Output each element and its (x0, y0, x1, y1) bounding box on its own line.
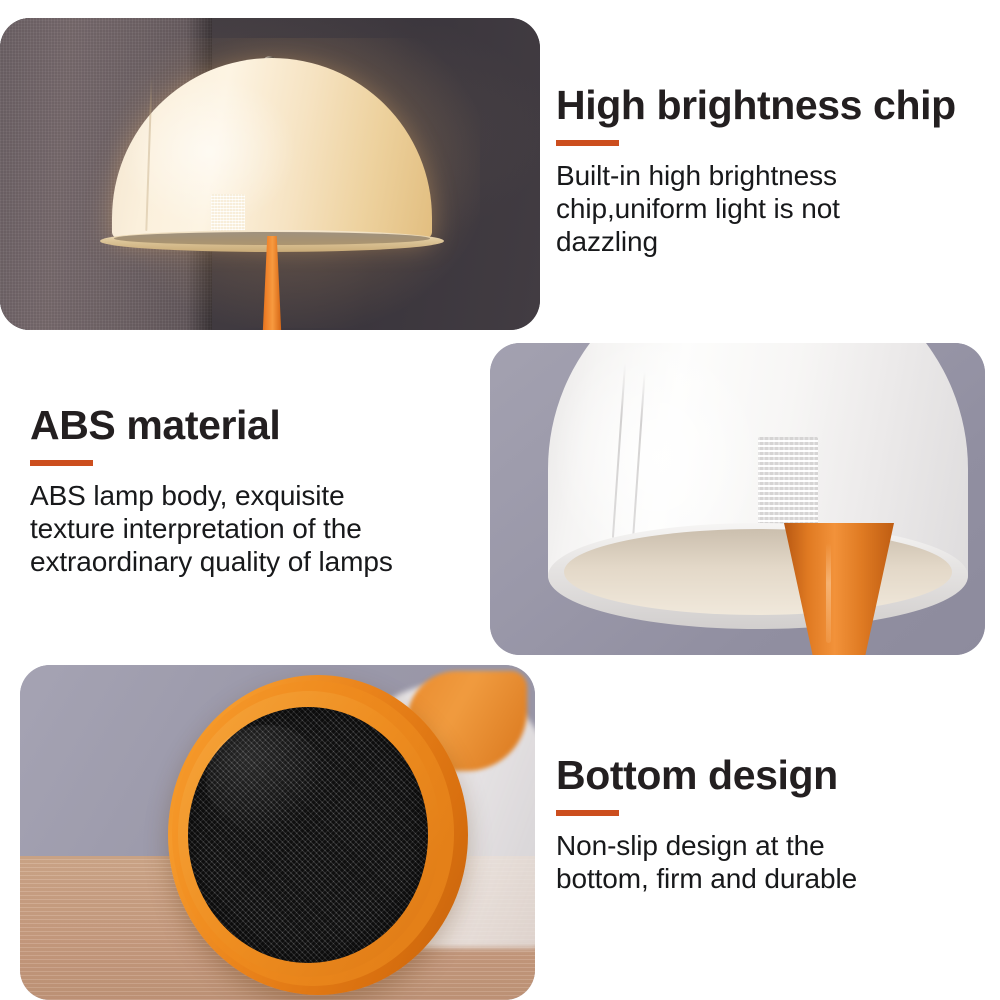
feature-description-line: bottom, firm and durable (556, 862, 994, 895)
feature-description: Non-slip design at the bottom, firm and … (556, 829, 994, 895)
feature-description-line: extraordinary quality of lamps (30, 545, 480, 578)
feature-description-line: chip,uniform light is not (556, 192, 994, 225)
feature-description-line: Built-in high brightness (556, 159, 994, 192)
dome-rim-interior (564, 529, 952, 615)
infographic-page: High brightness chip Built-in high brigh… (0, 0, 1000, 1000)
feature-description-line: Non-slip design at the (556, 829, 994, 862)
stem-highlight (826, 543, 831, 643)
non-slip-pad-sheen (206, 725, 326, 835)
feature-description-line: ABS lamp body, exquisite (30, 479, 480, 512)
accent-bar (556, 140, 619, 146)
feature-block-high-brightness-chip: High brightness chip Built-in high brigh… (556, 83, 994, 258)
orange-base-closeup-photo (20, 665, 535, 1000)
feature-description: ABS lamp body, exquisite texture interpr… (30, 479, 480, 578)
dome-mesh-highlight (758, 437, 818, 527)
feature-description-line: dazzling (556, 225, 994, 258)
accent-bar (556, 810, 619, 816)
feature-title: Bottom design (556, 753, 994, 797)
feature-title: High brightness chip (556, 83, 994, 127)
feature-block-abs-material: ABS material ABS lamp body, exquisite te… (30, 403, 480, 578)
feature-description: Built-in high brightness chip,uniform li… (556, 159, 994, 258)
feature-description-line: texture interpretation of the (30, 512, 480, 545)
lamp-lit-on-dark-wall-photo (0, 18, 540, 330)
white-dome-closeup-photo (490, 343, 985, 655)
feature-title: ABS material (30, 403, 480, 447)
feature-block-bottom-design: Bottom design Non-slip design at the bot… (556, 753, 994, 895)
accent-bar (30, 460, 93, 466)
